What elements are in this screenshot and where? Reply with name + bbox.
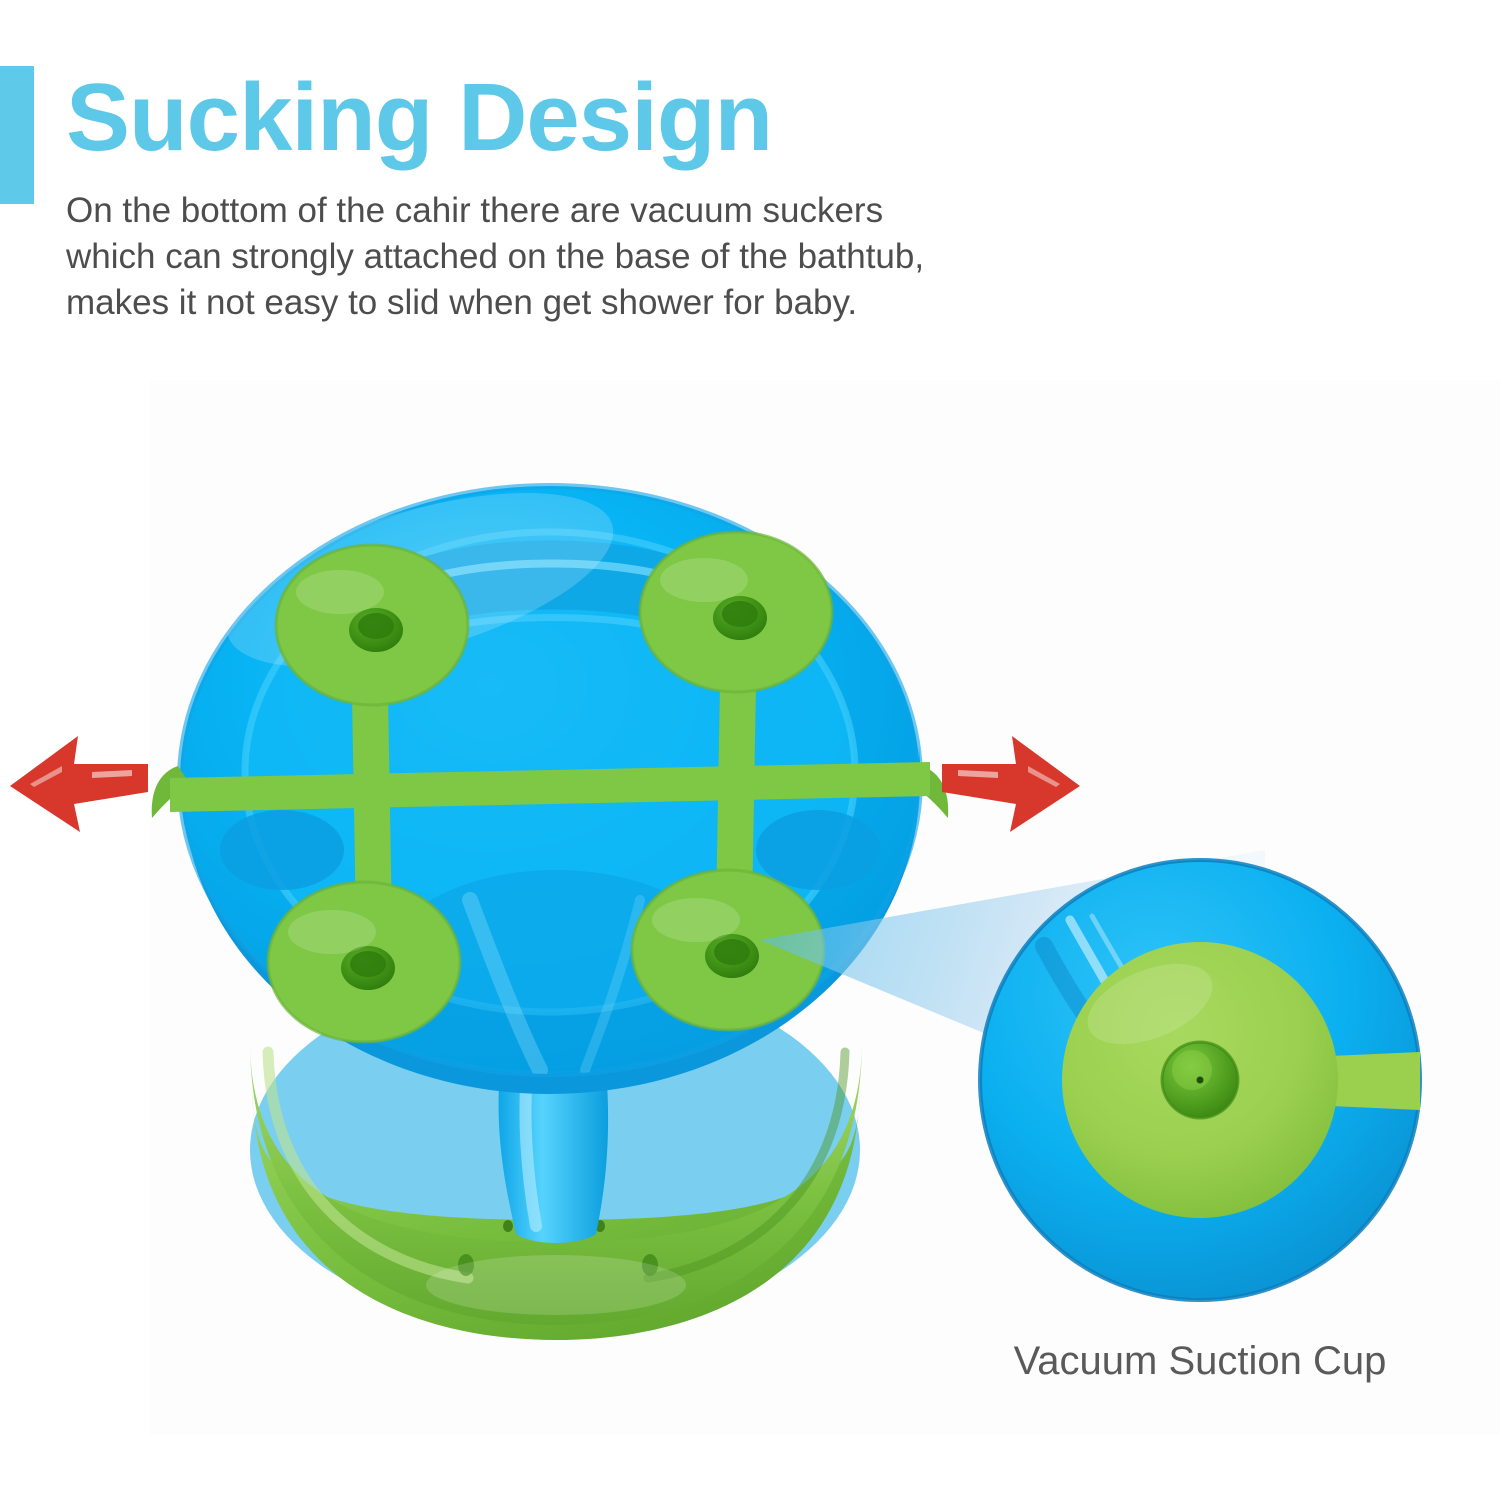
suction-cup-top-right xyxy=(640,532,832,692)
arrow-right-icon xyxy=(942,736,1080,832)
inset-connector-tab xyxy=(1330,1052,1420,1110)
drain-dimple xyxy=(220,810,344,890)
ring-vent-hole xyxy=(503,1220,513,1232)
arrow-left-icon xyxy=(10,736,148,832)
suction-cup-bottom-left xyxy=(268,882,460,1042)
infographic-page: Sucking Design On the bottom of the cahi… xyxy=(0,0,1500,1500)
drain-dimple xyxy=(756,810,880,890)
description-text: On the bottom of the cahir there are vac… xyxy=(66,188,1046,326)
suction-cup-top-left xyxy=(276,545,468,705)
headline-accent-bar xyxy=(0,66,34,204)
description-line-3: makes it not easy to slid when get showe… xyxy=(66,280,1046,326)
description-line-1: On the bottom of the cahir there are vac… xyxy=(66,188,1046,234)
product-illustration xyxy=(0,380,1500,1390)
suction-cup-inset xyxy=(980,860,1420,1300)
description-line-2: which can strongly attached on the base … xyxy=(66,234,1046,280)
inset-caption: Vacuum Suction Cup xyxy=(950,1336,1450,1386)
page-title: Sucking Design xyxy=(66,66,772,170)
